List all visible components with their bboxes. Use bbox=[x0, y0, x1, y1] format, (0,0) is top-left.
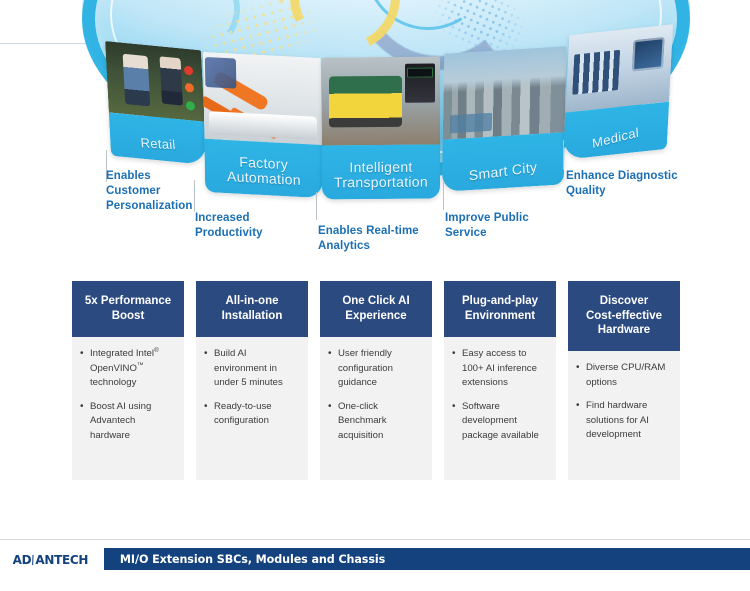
hero-photo-transportation bbox=[322, 56, 440, 145]
list-item: Diverse CPU/RAM options bbox=[575, 361, 672, 390]
bullet-list-cost-effective-hardware: Diverse CPU/RAM options Find hardware so… bbox=[575, 361, 672, 443]
feature-card-body-performance: Integrated Intel® OpenVINO™ technology B… bbox=[72, 337, 184, 480]
hero-segment-medical[interactable]: Medical bbox=[563, 24, 673, 160]
hero-carousel-graphic: Retail Factory Automation Intelligent Tr… bbox=[0, 0, 750, 262]
footer-logo-separator bbox=[100, 548, 104, 570]
feature-card-title-plug-and-play: Plug-and-play Environment bbox=[444, 281, 556, 337]
feature-card-plug-and-play[interactable]: Plug-and-play Environment Easy access to… bbox=[444, 281, 556, 480]
list-item: Easy access to 100+ AI inference extensi… bbox=[451, 347, 548, 391]
leader-line-medical bbox=[563, 140, 564, 170]
factory-machine-block bbox=[205, 57, 236, 88]
feature-card-title-one-click-ai: One Click AI Experience bbox=[320, 281, 432, 337]
benefit-label-factory: Increased Productivity bbox=[195, 211, 263, 241]
feature-card-body-plug-and-play: Easy access to 100+ AI inference extensi… bbox=[444, 337, 556, 480]
benefit-label-city: Improve Public Service bbox=[445, 211, 529, 241]
leader-line-transport bbox=[316, 192, 317, 220]
advantech-logo: AD\ANTECH bbox=[0, 548, 100, 570]
hero-photo-medical bbox=[565, 24, 673, 112]
feature-card-row: 5x Performance Boost Integrated Intel® O… bbox=[72, 281, 680, 480]
footer-divider-rule bbox=[0, 539, 750, 540]
hero-photo-retail bbox=[105, 41, 205, 121]
bullet-list-performance: Integrated Intel® OpenVINO™ technology B… bbox=[79, 347, 176, 443]
benefit-label-retail: Enables Customer Personalization bbox=[106, 169, 193, 215]
leader-line-factory bbox=[194, 180, 195, 212]
feature-card-title-cost-effective-hardware: Discover Cost-effective Hardware bbox=[568, 281, 680, 351]
transit-display-sign bbox=[407, 67, 433, 78]
advantech-logo-text: AD\ANTECH bbox=[12, 552, 88, 567]
footer-bar: AD\ANTECH MI/O Extension SBCs, Modules a… bbox=[0, 548, 750, 570]
feature-card-cost-effective-hardware[interactable]: Discover Cost-effective Hardware Diverse… bbox=[568, 281, 680, 480]
footer-title: MI/O Extension SBCs, Modules and Chassis bbox=[108, 552, 385, 566]
feature-card-body-cost-effective-hardware: Diverse CPU/RAM options Find hardware so… bbox=[568, 351, 680, 480]
leader-line-city bbox=[443, 182, 444, 210]
hero-photo-smart-city bbox=[443, 46, 566, 139]
feature-card-body-one-click-ai: User friendly configuration guidance One… bbox=[320, 337, 432, 480]
hero-segment-smart-city[interactable]: Smart City bbox=[442, 46, 566, 192]
list-item: Ready-to-use configuration bbox=[203, 400, 300, 429]
list-item: Boost AI using Advantech hardware bbox=[79, 400, 176, 444]
bullet-list-plug-and-play: Easy access to 100+ AI inference extensi… bbox=[451, 347, 548, 443]
feature-card-body-installation: Build AI environment in under 5 minutes … bbox=[196, 337, 308, 480]
list-item: Integrated Intel® OpenVINO™ technology bbox=[79, 347, 176, 391]
benefit-label-medical: Enhance Diagnostic Quality bbox=[566, 169, 678, 199]
retail-signal-lights bbox=[180, 61, 199, 115]
hero-segment-intelligent-transportation[interactable]: Intelligent Transportation bbox=[322, 56, 440, 199]
list-item: User friendly configuration guidance bbox=[327, 347, 424, 391]
bullet-list-one-click-ai: User friendly configuration guidance One… bbox=[327, 347, 424, 443]
list-item: Build AI environment in under 5 minutes bbox=[203, 347, 300, 391]
feature-card-title-performance: 5x Performance Boost bbox=[72, 281, 184, 337]
list-item: Software development package available bbox=[451, 400, 548, 444]
list-item: Find hardware solutions for AI developme… bbox=[575, 399, 672, 443]
list-item: One-click Benchmark acquisition bbox=[327, 400, 424, 444]
hero-segment-label-intelligent-transportation: Intelligent Transportation bbox=[322, 159, 440, 191]
hero-segment-label-factory-automation: Factory Automation bbox=[205, 153, 324, 191]
feature-card-performance[interactable]: 5x Performance Boost Integrated Intel® O… bbox=[72, 281, 184, 480]
hero-segment-factory-automation[interactable]: Factory Automation bbox=[203, 52, 323, 198]
bullet-list-installation: Build AI environment in under 5 minutes … bbox=[203, 347, 300, 429]
hero-segment-retail[interactable]: Retail bbox=[105, 41, 207, 165]
feature-card-installation[interactable]: All-in-one Installation Build AI environ… bbox=[196, 281, 308, 480]
slide-canvas: Retail Factory Automation Intelligent Tr… bbox=[0, 0, 750, 591]
feature-card-title-installation: All-in-one Installation bbox=[196, 281, 308, 337]
benefit-label-transport: Enables Real-time Analytics bbox=[318, 224, 419, 254]
feature-card-one-click-ai[interactable]: One Click AI Experience User friendly co… bbox=[320, 281, 432, 480]
hero-photo-factory bbox=[203, 52, 322, 145]
